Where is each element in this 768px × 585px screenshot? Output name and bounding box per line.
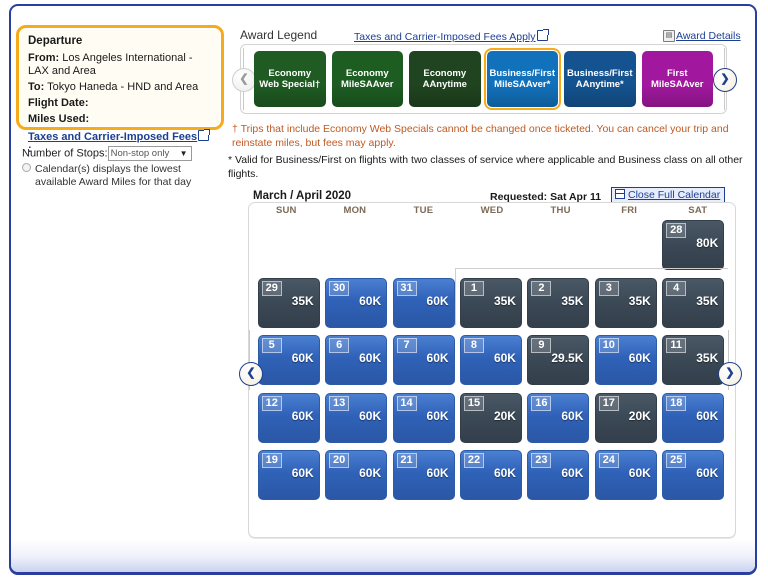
calendar-day-miles: 35K [292,294,314,308]
calendar-day-miles: 60K [359,466,381,480]
calendar-day-number: 18 [666,396,686,411]
calendar-day-cell[interactable]: 2460K [595,450,657,500]
calendar-cell-slot: 1860K [660,393,727,451]
calendar-day-headers: SUNMONTUEWEDTHUFRISAT [252,205,732,219]
calendar-day-miles: 60K [359,294,381,308]
calendar-day-number: 14 [397,396,417,411]
legend-chip-label: FirstMileSAAver [651,68,703,90]
calendar-day-cell[interactable]: 1660K [527,393,589,443]
calendar-day-miles: 60K [629,351,651,365]
legend-fees-apply-link[interactable]: Taxes and Carrier-Imposed Fees Apply [354,30,549,43]
calendar-day-miles: 20K [494,409,516,423]
calendar-empty-cell [527,220,589,270]
calendar-day-miles: 80K [696,236,718,250]
radio-bullet-icon [22,163,31,172]
frame-footer [11,539,755,572]
calendar-week-row: 560K660K760K860K929.5K1060K1135K [255,335,727,393]
calendar-day-number: 8 [464,338,484,353]
calendar-cell-slot: 660K [322,335,389,393]
calendar-day-miles: 60K [359,409,381,423]
calendar-cell-slot: 929.5K [525,335,592,393]
chevron-down-icon: ▼ [180,147,188,160]
calendar-day-number: 5 [262,338,282,353]
calendar-cell-slot [322,220,389,278]
number-of-stops-value: Non-stop only [111,148,170,159]
departure-miles-used-label: Miles Used: [28,113,89,125]
departure-to-value: Tokyo Haneda - HND and Area [47,81,198,93]
departure-panel: Departure From: Los Angeles Internationa… [16,25,224,130]
calendar-day-cell[interactable]: 760K [393,335,455,385]
calendar-day-number: 15 [464,396,484,411]
calendar-day-number: 28 [666,223,686,238]
calendar-day-cell[interactable]: 3060K [325,278,387,328]
calendar-cell-slot: 560K [255,335,322,393]
calendar-day-number: 9 [531,338,551,353]
calendar-empty-cell [595,220,657,270]
calendar-empty-cell [460,220,522,270]
legend-chip-4[interactable]: Business/FirstAAnytime* [564,51,636,107]
calendar-day-miles: 60K [561,409,583,423]
external-link-icon [537,30,548,41]
calendar-day-cell[interactable]: 1720K [595,393,657,443]
calendar-day-number: 11 [666,338,686,353]
calendar-grid-icon [615,189,625,199]
legend-chip-3[interactable]: Business/FirstMileSAAver* [487,51,559,107]
calendar-cell-slot: 760K [390,335,457,393]
calendar-day-header-fri: FRI [595,205,664,219]
calendar-cell-slot: 860K [457,335,524,393]
legend-next-button[interactable]: ❯ [713,68,737,92]
legend-chip-0[interactable]: EconomyWeb Special† [254,51,326,107]
calendar-cell-slot: 1960K [255,450,322,508]
calendar-day-cell[interactable]: 2060K [325,450,387,500]
calendar-day-header-wed: WED [458,205,527,219]
calendar-day-cell[interactable]: 1260K [258,393,320,443]
calendar-day-miles: 60K [427,466,449,480]
calendar-day-cell[interactable]: 1360K [325,393,387,443]
calendar-empty-cell [325,220,387,270]
calendar-day-cell[interactable]: 2880K [662,220,724,270]
calendar-month-title: March / April 2020 [253,190,351,202]
calendar-day-number: 25 [666,453,686,468]
departure-title: Departure [28,35,212,47]
legend-chip-label: EconomyWeb Special† [259,68,320,90]
calendar-cell-slot: 2935K [255,278,322,336]
calendar-cell-slot: 1060K [592,335,659,393]
legend-chip-5[interactable]: FirstMileSAAver [642,51,714,107]
calendar-day-cell[interactable]: 2935K [258,278,320,328]
calendar-day-miles: 60K [696,409,718,423]
calendar-day-cell[interactable]: 929.5K [527,335,589,385]
calendar-cell-slot [255,220,322,278]
calendar-day-number: 6 [329,338,349,353]
calendar-day-miles: 60K [427,351,449,365]
calendar-cell-slot [390,220,457,278]
calendar-grid: 2880K2935K3060K3160K135K235K335K435K560K… [255,220,727,508]
calendar-cell-slot: 1520K [457,393,524,451]
calendar-day-miles: 60K [427,294,449,308]
footnote-star: * Valid for Business/First on flights wi… [228,153,752,181]
calendar-cell-slot: 2460K [592,450,659,508]
calendar-cell-slot: 1660K [525,393,592,451]
number-of-stops-label: Number of Stops: [22,147,108,159]
calendar-prev-button[interactable]: ❮ [239,362,263,386]
calendar-day-miles: 60K [561,466,583,480]
calendar-day-number: 10 [599,338,619,353]
calendar-day-number: 22 [464,453,484,468]
calendar-cell-slot: 1260K [255,393,322,451]
departure-from-row: From: Los Angeles International - LAX an… [28,52,212,78]
calendar-day-header-mon: MON [321,205,390,219]
award-details-link[interactable]: Award Details [676,30,741,42]
calendar-week-row: 1260K1360K1460K1520K1660K1720K1860K [255,393,727,451]
calendar-day-miles: 60K [427,409,449,423]
legend-chip-2[interactable]: EconomyAAnytime [409,51,481,107]
footnote-dagger: † Trips that include Economy Web Special… [232,122,748,150]
calendar-day-header-tue: TUE [389,205,458,219]
calendar-cell-slot: 1720K [592,393,659,451]
calendar-empty-cell [393,220,455,270]
legend-chip-label: EconomyMileSAAver [341,68,393,90]
calendar-day-miles: 60K [629,466,651,480]
calendar-day-miles: 60K [359,351,381,365]
calendar-day-cell[interactable]: 560K [258,335,320,385]
calendar-cell-slot: 2560K [660,450,727,508]
calendar-day-number: 19 [262,453,282,468]
calendar-day-header-sat: SAT [663,205,732,219]
legend-chip-1[interactable]: EconomyMileSAAver [332,51,404,107]
calendar-day-header-sun: SUN [252,205,321,219]
calendar-day-miles: 60K [292,466,314,480]
calendar-day-miles: 60K [696,466,718,480]
calendar-day-miles: 20K [629,409,651,423]
calendar-note-text: Calendar(s) displays the lowest availabl… [35,163,207,188]
award-legend-chip-list: EconomyWeb Special†EconomyMileSAAverEcon… [254,49,713,109]
calendar-day-number: 31 [397,281,417,296]
calendar-day-cell[interactable]: 2360K [527,450,589,500]
calendar-day-cell[interactable]: 1460K [393,393,455,443]
calendar-day-cell[interactable]: 1135K [662,335,724,385]
number-of-stops-select[interactable]: Non-stop only▼ [108,146,192,161]
calendar-day-number: 29 [262,281,282,296]
calendar-cell-slot: 3160K [390,278,457,336]
calendar-day-miles: 35K [696,351,718,365]
calendar-day-miles: 60K [292,351,314,365]
calendar-day-number: 17 [599,396,619,411]
calendar-cell-slot: 1135K [660,335,727,393]
calendar-day-cell[interactable]: 1520K [460,393,522,443]
legend-fees-apply-text: Taxes and Carrier-Imposed Fees Apply [354,31,536,43]
calendar-day-miles: 60K [494,351,516,365]
close-full-calendar-button[interactable]: Close Full Calendar [611,187,725,203]
calendar-note: Calendar(s) displays the lowest availabl… [22,163,222,188]
calendar-day-number: 21 [397,453,417,468]
calendar-next-button[interactable]: ❯ [718,362,742,386]
calendar-empty-cell [258,220,320,270]
legend-chip-label: Business/FirstAAnytime* [567,68,632,90]
calendar-day-cell[interactable]: 3160K [393,278,455,328]
calendar-day-number: 12 [262,396,282,411]
calendar-day-number: 23 [531,453,551,468]
calendar-day-header-thu: THU [526,205,595,219]
calendar-day-number: 20 [329,453,349,468]
departure-miles-used-row: Miles Used: [28,113,212,126]
calendar-day-cell[interactable]: 860K [460,335,522,385]
departure-fees-link-text: Taxes and Carrier-Imposed Fees [28,131,197,143]
legend-prev-button[interactable]: ❮ [232,68,256,92]
calendar-day-number: 13 [329,396,349,411]
calendar-cell-slot: 2060K [322,450,389,508]
calendar-cell-slot: 1460K [390,393,457,451]
calendar-cell-slot: 2260K [457,450,524,508]
number-of-stops-row: Number of Stops:Non-stop only▼ [22,146,237,161]
calendar-day-cell[interactable]: 1060K [595,335,657,385]
calendar-day-cell[interactable]: 1960K [258,450,320,500]
calendar-week-row: 1960K2060K2160K2260K2360K2460K2560K [255,450,727,508]
calendar-day-number: 7 [397,338,417,353]
calendar-day-cell[interactable]: 2260K [460,450,522,500]
award-legend-heading: Award Legend [240,28,317,42]
departure-from-label: From: [28,52,59,64]
calendar-cell-slot: 2160K [390,450,457,508]
month-separator [455,268,728,325]
departure-to-label: To: [28,81,44,93]
calendar-day-miles: 60K [494,466,516,480]
calendar-day-number: 24 [599,453,619,468]
calendar-day-cell[interactable]: 1860K [662,393,724,443]
info-window-icon: ▤ [663,30,675,42]
departure-flight-date-label: Flight Date: [28,97,89,109]
departure-flight-date-row: Flight Date: [28,97,212,110]
external-link-icon [198,130,209,141]
calendar-day-miles: 60K [292,409,314,423]
calendar-cell-slot: 2360K [525,450,592,508]
close-full-calendar-label: Close Full Calendar [628,189,720,201]
legend-chip-label: EconomyAAnytime [423,68,467,90]
departure-to-row: To: Tokyo Haneda - HND and Area [28,81,212,94]
legend-chip-label: Business/FirstMileSAAver* [490,68,555,90]
calendar-day-cell[interactable]: 2160K [393,450,455,500]
calendar-cell-slot: 1360K [322,393,389,451]
calendar-day-number: 30 [329,281,349,296]
calendar-cell-slot: 3060K [322,278,389,336]
calendar-day-cell[interactable]: 2560K [662,450,724,500]
calendar-day-miles: 29.5K [551,351,583,365]
calendar-day-cell[interactable]: 660K [325,335,387,385]
calendar-day-number: 16 [531,396,551,411]
